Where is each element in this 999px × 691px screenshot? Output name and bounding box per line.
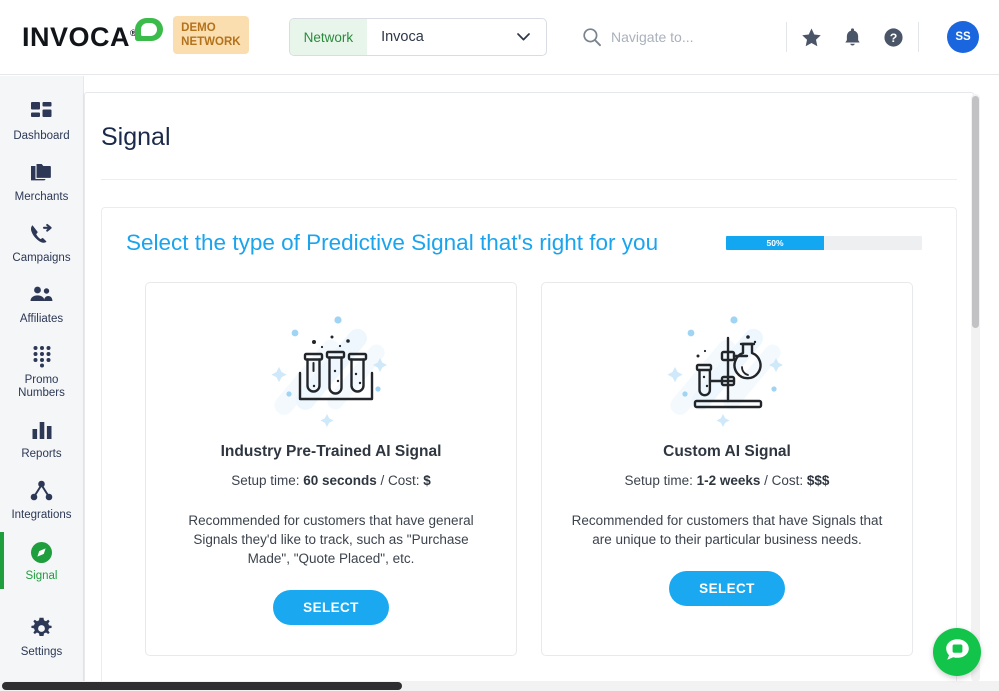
panel-header: Select the type of Predictive Signal tha… xyxy=(126,230,932,256)
sidebar-item-label: Campaigns xyxy=(12,252,70,265)
speech-bubble-icon xyxy=(135,18,165,44)
header-icon-group: ? xyxy=(801,27,904,48)
progress-bar-label: 50% xyxy=(766,238,783,248)
sidebar-item-label: Affiliates xyxy=(20,313,63,326)
main-content-panel: Signal Select the type of Predictive Sig… xyxy=(84,92,974,684)
star-icon[interactable] xyxy=(801,27,822,48)
chat-bubble-icon xyxy=(944,637,971,668)
horizontal-scrollbar-thumb[interactable] xyxy=(2,682,402,690)
node-tree-icon xyxy=(30,479,53,503)
sidebar-item-affiliates[interactable]: Affiliates xyxy=(0,273,83,334)
progress-bar: 50% xyxy=(726,236,922,250)
signal-option-card[interactable]: Industry Pre-Trained AI Signal Setup tim… xyxy=(145,282,517,656)
app-header: INVOCA® DEMO NETWORK Network Invoca Navi… xyxy=(0,0,999,75)
sidebar-item-dashboard[interactable]: Dashboard xyxy=(0,90,83,151)
sidebar-nav: Dashboard Merchants Campaigns Affiliates… xyxy=(0,76,84,681)
gear-icon xyxy=(30,616,53,640)
panel-title: Select the type of Predictive Signal tha… xyxy=(126,230,658,256)
sidebar-item-label: Integrations xyxy=(11,509,71,522)
chevron-down-icon[interactable] xyxy=(517,19,546,55)
card-title: Custom AI Signal xyxy=(566,443,888,461)
avatar[interactable]: SS xyxy=(947,21,979,53)
signal-type-panel: Select the type of Predictive Signal tha… xyxy=(101,207,957,684)
page-title: Signal xyxy=(85,93,973,152)
signal-option-cards: Industry Pre-Trained AI Signal Setup tim… xyxy=(126,282,932,656)
signal-option-card[interactable]: Custom AI Signal Setup time: 1-2 weeks /… xyxy=(541,282,913,656)
card-meta: Setup time: 1-2 weeks / Cost: $$$ xyxy=(566,473,888,488)
svg-text:?: ? xyxy=(890,31,898,45)
search-input[interactable]: Navigate to... xyxy=(582,27,772,47)
sidebar-item-promo-numbers[interactable]: Promo Numbers xyxy=(0,334,83,408)
chat-widget-button[interactable] xyxy=(933,628,981,676)
sidebar-item-settings[interactable]: Settings xyxy=(0,606,83,667)
sidebar-item-integrations[interactable]: Integrations xyxy=(0,469,83,530)
vertical-scrollbar-thumb[interactable] xyxy=(972,96,979,328)
header-divider-1 xyxy=(786,22,787,52)
people-icon xyxy=(29,283,54,307)
card-description: Recommended for customers that have Sign… xyxy=(566,511,888,549)
sidebar-item-label: Signal xyxy=(26,570,58,583)
title-divider xyxy=(101,179,957,180)
brand-logo[interactable]: INVOCA® DEMO NETWORK xyxy=(22,20,249,54)
card-title: Industry Pre-Trained AI Signal xyxy=(170,443,492,461)
sidebar-item-signal[interactable]: Signal xyxy=(0,530,83,591)
network-selector-value: Invoca xyxy=(367,19,516,55)
network-selector-label: Network xyxy=(290,19,368,55)
sidebar-item-label: Promo Numbers xyxy=(2,374,81,400)
bell-icon[interactable] xyxy=(842,27,863,48)
test-tube-rack-icon xyxy=(170,309,492,431)
demo-network-badge: DEMO NETWORK xyxy=(173,16,248,54)
sidebar-item-campaigns[interactable]: Campaigns xyxy=(0,212,83,273)
select-button[interactable]: SELECT xyxy=(669,571,785,606)
compass-icon xyxy=(30,540,53,564)
folders-icon xyxy=(30,161,54,185)
bar-chart-icon xyxy=(31,418,53,442)
grid-icon xyxy=(30,100,53,124)
sidebar-item-merchants[interactable]: Merchants xyxy=(0,151,83,212)
network-selector[interactable]: Network Invoca xyxy=(289,18,547,56)
sidebar-item-label: Dashboard xyxy=(13,130,69,143)
help-circle-icon[interactable]: ? xyxy=(883,27,904,48)
lab-stand-flask-icon xyxy=(566,309,888,431)
sidebar-item-label: Reports xyxy=(21,448,61,461)
search-icon xyxy=(582,27,602,47)
sidebar-item-label: Settings xyxy=(21,646,63,659)
search-placeholder: Navigate to... xyxy=(611,29,694,45)
phone-forward-icon xyxy=(30,222,54,246)
card-meta: Setup time: 60 seconds / Cost: $ xyxy=(170,473,492,488)
header-divider-2 xyxy=(918,22,919,52)
progress-bar-fill: 50% xyxy=(726,236,824,250)
keypad-dots-icon xyxy=(32,344,52,368)
card-description: Recommended for customers that have gene… xyxy=(170,511,492,568)
sidebar-item-label: Merchants xyxy=(15,191,69,204)
header-right-group: Navigate to... ? SS xyxy=(582,21,979,53)
logo-wordmark: INVOCA® xyxy=(22,22,137,53)
select-button[interactable]: SELECT xyxy=(273,590,389,625)
sidebar-item-reports[interactable]: Reports xyxy=(0,408,83,469)
